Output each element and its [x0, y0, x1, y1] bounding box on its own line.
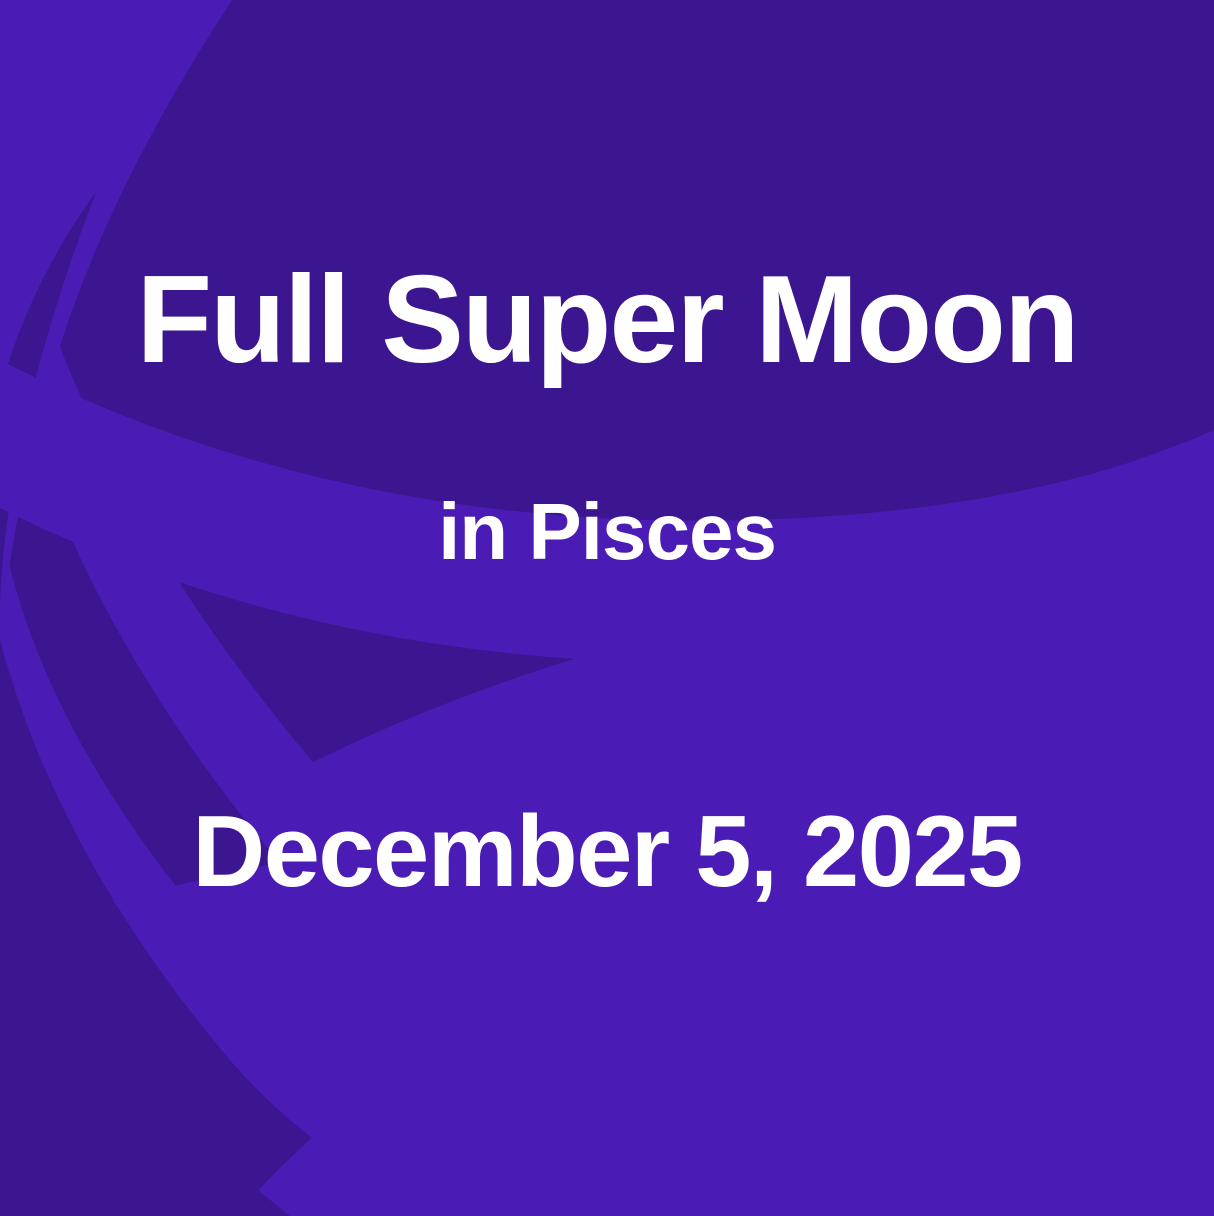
- page-title: Full Super Moon: [0, 258, 1214, 382]
- subtitle-zodiac-sign: in Pisces: [0, 492, 1214, 572]
- moon-event-card: Full Super Moon in Pisces December 5, 20…: [0, 0, 1214, 1216]
- text-overlay: Full Super Moon in Pisces December 5, 20…: [0, 0, 1214, 1216]
- event-date: December 5, 2025: [0, 802, 1214, 903]
